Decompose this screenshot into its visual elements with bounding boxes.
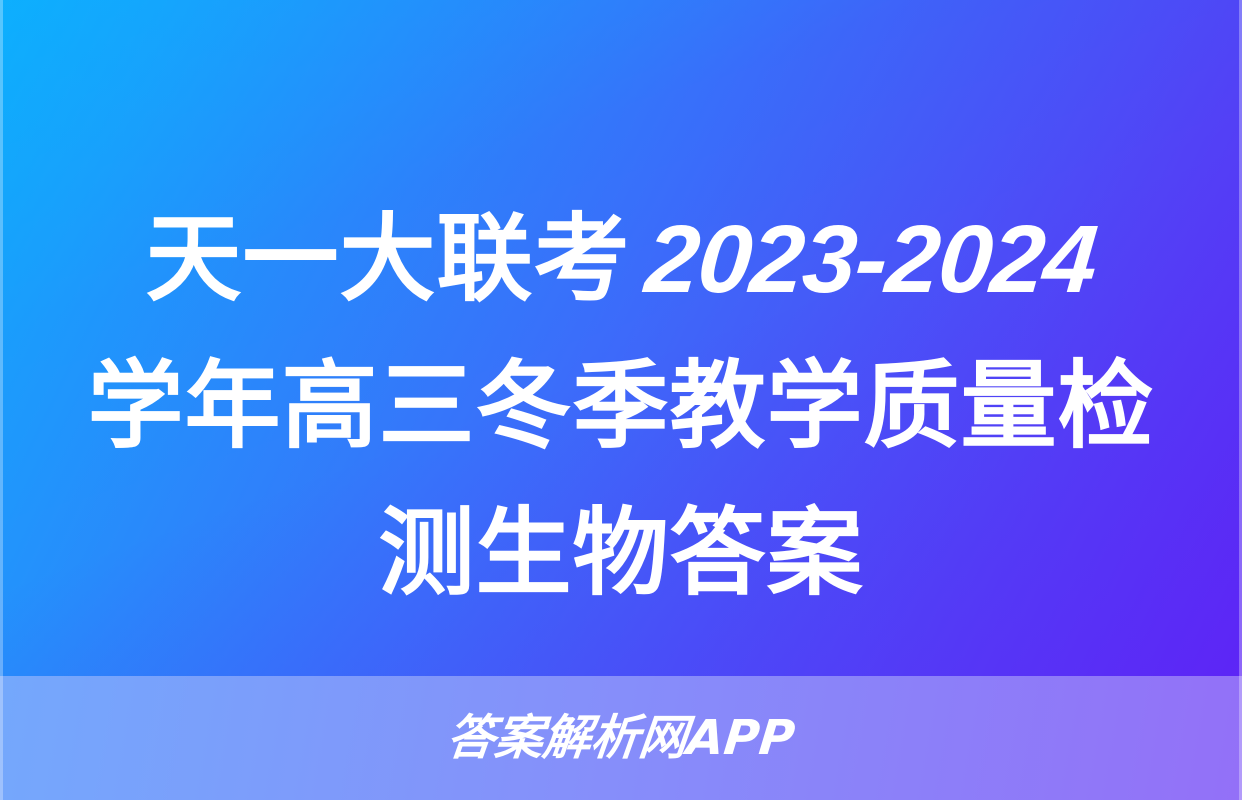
poster-title: 天一大联考2023-2024 学年高三冬季教学质量检 测生物答案 [0, 186, 1242, 627]
footer-brand-text: 答案解析网APP [444, 710, 797, 766]
title-line-1: 天一大联考2023-2024 [24, 186, 1218, 333]
title-line-3-text: 测生物答案 [379, 497, 864, 609]
school-year-label: 2023-2024 [640, 187, 1103, 333]
title-line-2-text: 学年高三冬季教学质量检 [88, 350, 1155, 462]
footer-brand-band: 答案解析网APP [0, 676, 1242, 800]
title-line-1-text: 天一大联考 [145, 203, 630, 315]
poster-canvas: 天一大联考2023-2024 学年高三冬季教学质量检 测生物答案 答案解析网AP… [0, 0, 1242, 800]
title-line-2: 学年高三冬季教学质量检 [24, 333, 1218, 480]
title-line-3: 测生物答案 [24, 480, 1218, 627]
